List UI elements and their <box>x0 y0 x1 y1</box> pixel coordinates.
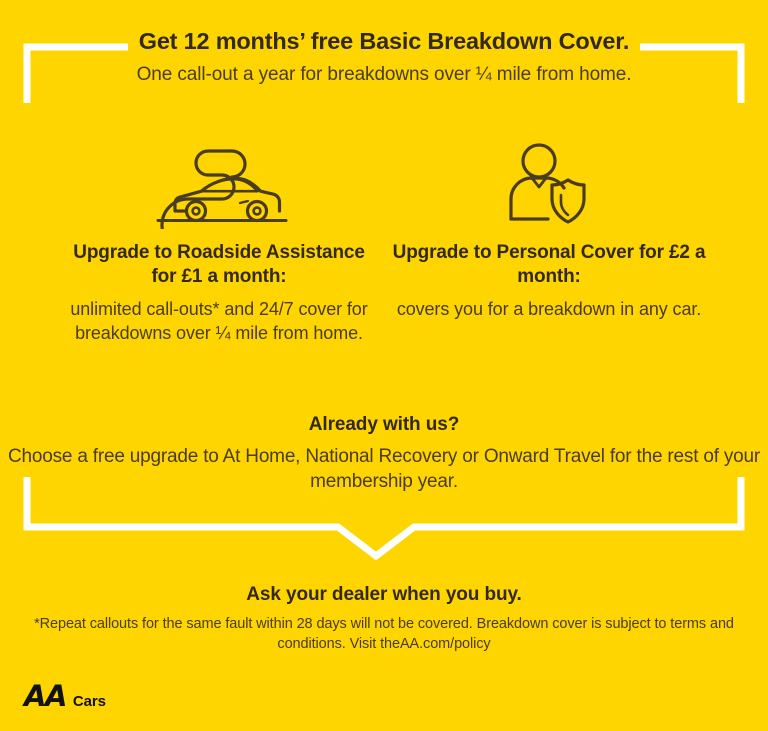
person-shield-icon <box>392 136 706 232</box>
aa-logo-wordmark: Cars <box>73 694 106 709</box>
offer-body-roadside: unlimited call-outs* and 24/7 cover for … <box>62 298 376 346</box>
aa-cars-logo: AA Cars <box>24 682 106 711</box>
offer-card-personal: Upgrade to Personal Cover for £2 a month… <box>384 136 714 322</box>
car-road-icon <box>62 136 376 232</box>
offer-heading-personal: Upgrade to Personal Cover for £2 a month… <box>392 241 706 290</box>
offer-heading-roadside: Upgrade to Roadside Assistance for £1 a … <box>62 241 376 290</box>
poster-root: Get 12 months’ free Basic Breakdown Cove… <box>0 0 768 731</box>
cta-title: Ask your dealer when you buy. <box>0 584 768 606</box>
page-subtitle: One call-out a year for breakdowns over … <box>0 64 768 87</box>
already-with-us-title: Already with us? <box>0 414 768 436</box>
offer-columns: Upgrade to Roadside Assistance for £1 a … <box>0 136 768 346</box>
offer-body-personal: covers you for a breakdown in any car. <box>392 298 706 322</box>
cta-section: Ask your dealer when you buy. *Repeat ca… <box>0 584 768 654</box>
header: Get 12 months’ free Basic Breakdown Cove… <box>0 28 768 87</box>
page-title: Get 12 months’ free Basic Breakdown Cove… <box>0 28 768 55</box>
already-with-us-section: Already with us? Choose a free upgrade t… <box>0 414 768 494</box>
already-with-us-body: Choose a free upgrade to At Home, Nation… <box>0 445 768 494</box>
offer-card-roadside: Upgrade to Roadside Assistance for £1 a … <box>54 136 384 346</box>
footnote-text: *Repeat callouts for the same fault with… <box>0 615 768 654</box>
aa-logo-mark: AA <box>24 682 66 711</box>
